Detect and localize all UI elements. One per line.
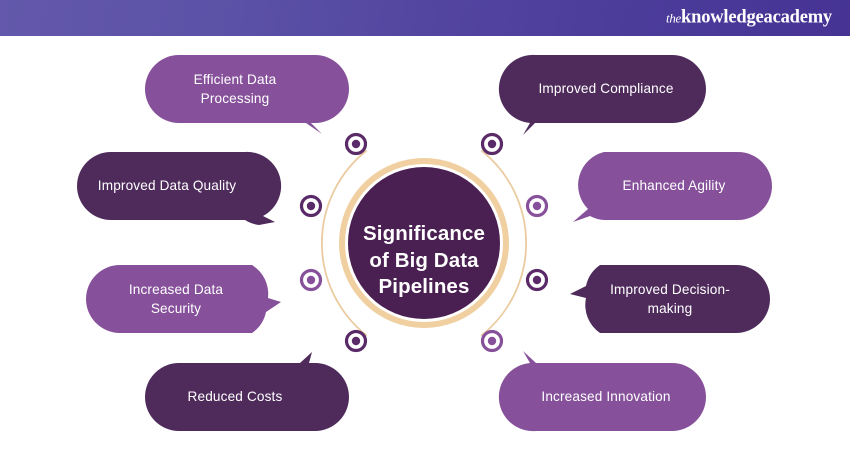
connector-dot-reduced-costs[interactable] [347, 332, 366, 351]
diagram-canvas: Significance of Big Data Pipelines Effic… [0, 36, 850, 450]
diagram-artwork [0, 36, 850, 450]
bubble-reduced-costs[interactable] [145, 352, 349, 431]
brand-the: the [666, 11, 681, 26]
bubble-shape[interactable] [499, 55, 706, 135]
brand-academy: academy [764, 8, 832, 28]
brand-logo: theknowledgeacademy [666, 8, 832, 29]
connector-dot-improved-compliance[interactable] [483, 135, 502, 154]
connector-dot-improved-data-quality[interactable] [302, 197, 321, 216]
bubble-shape[interactable] [86, 265, 281, 333]
bubble-shape[interactable] [573, 152, 772, 222]
bubble-improved-data-quality[interactable] [77, 152, 281, 225]
connector-dot-increased-data-security[interactable] [302, 271, 321, 290]
bubble-increased-innovation[interactable] [499, 351, 706, 431]
connector-dot-improved-decision-making[interactable] [528, 271, 547, 290]
bubble-shape[interactable] [145, 352, 349, 431]
bubble-shape[interactable] [77, 152, 281, 225]
bubble-efficient-data-processing[interactable] [145, 55, 349, 134]
connector-dot-efficient-data-processing[interactable] [347, 135, 366, 154]
connector-dot-increased-innovation[interactable] [483, 332, 502, 351]
brand-knowledge: knowledge [681, 8, 764, 28]
bubble-shape[interactable] [145, 55, 349, 134]
bubble-enhanced-agility[interactable] [573, 152, 772, 222]
bubble-improved-decision-making[interactable] [570, 265, 770, 333]
bubble-increased-data-security[interactable] [86, 265, 281, 333]
bubble-shape[interactable] [499, 351, 706, 431]
center-circle [348, 167, 500, 319]
bubble-improved-compliance[interactable] [499, 55, 706, 135]
connector-dot-enhanced-agility[interactable] [528, 197, 547, 216]
bubble-shape[interactable] [570, 265, 770, 333]
infographic-page: theknowledgeacademy [0, 0, 850, 450]
page-header: theknowledgeacademy [0, 0, 850, 36]
